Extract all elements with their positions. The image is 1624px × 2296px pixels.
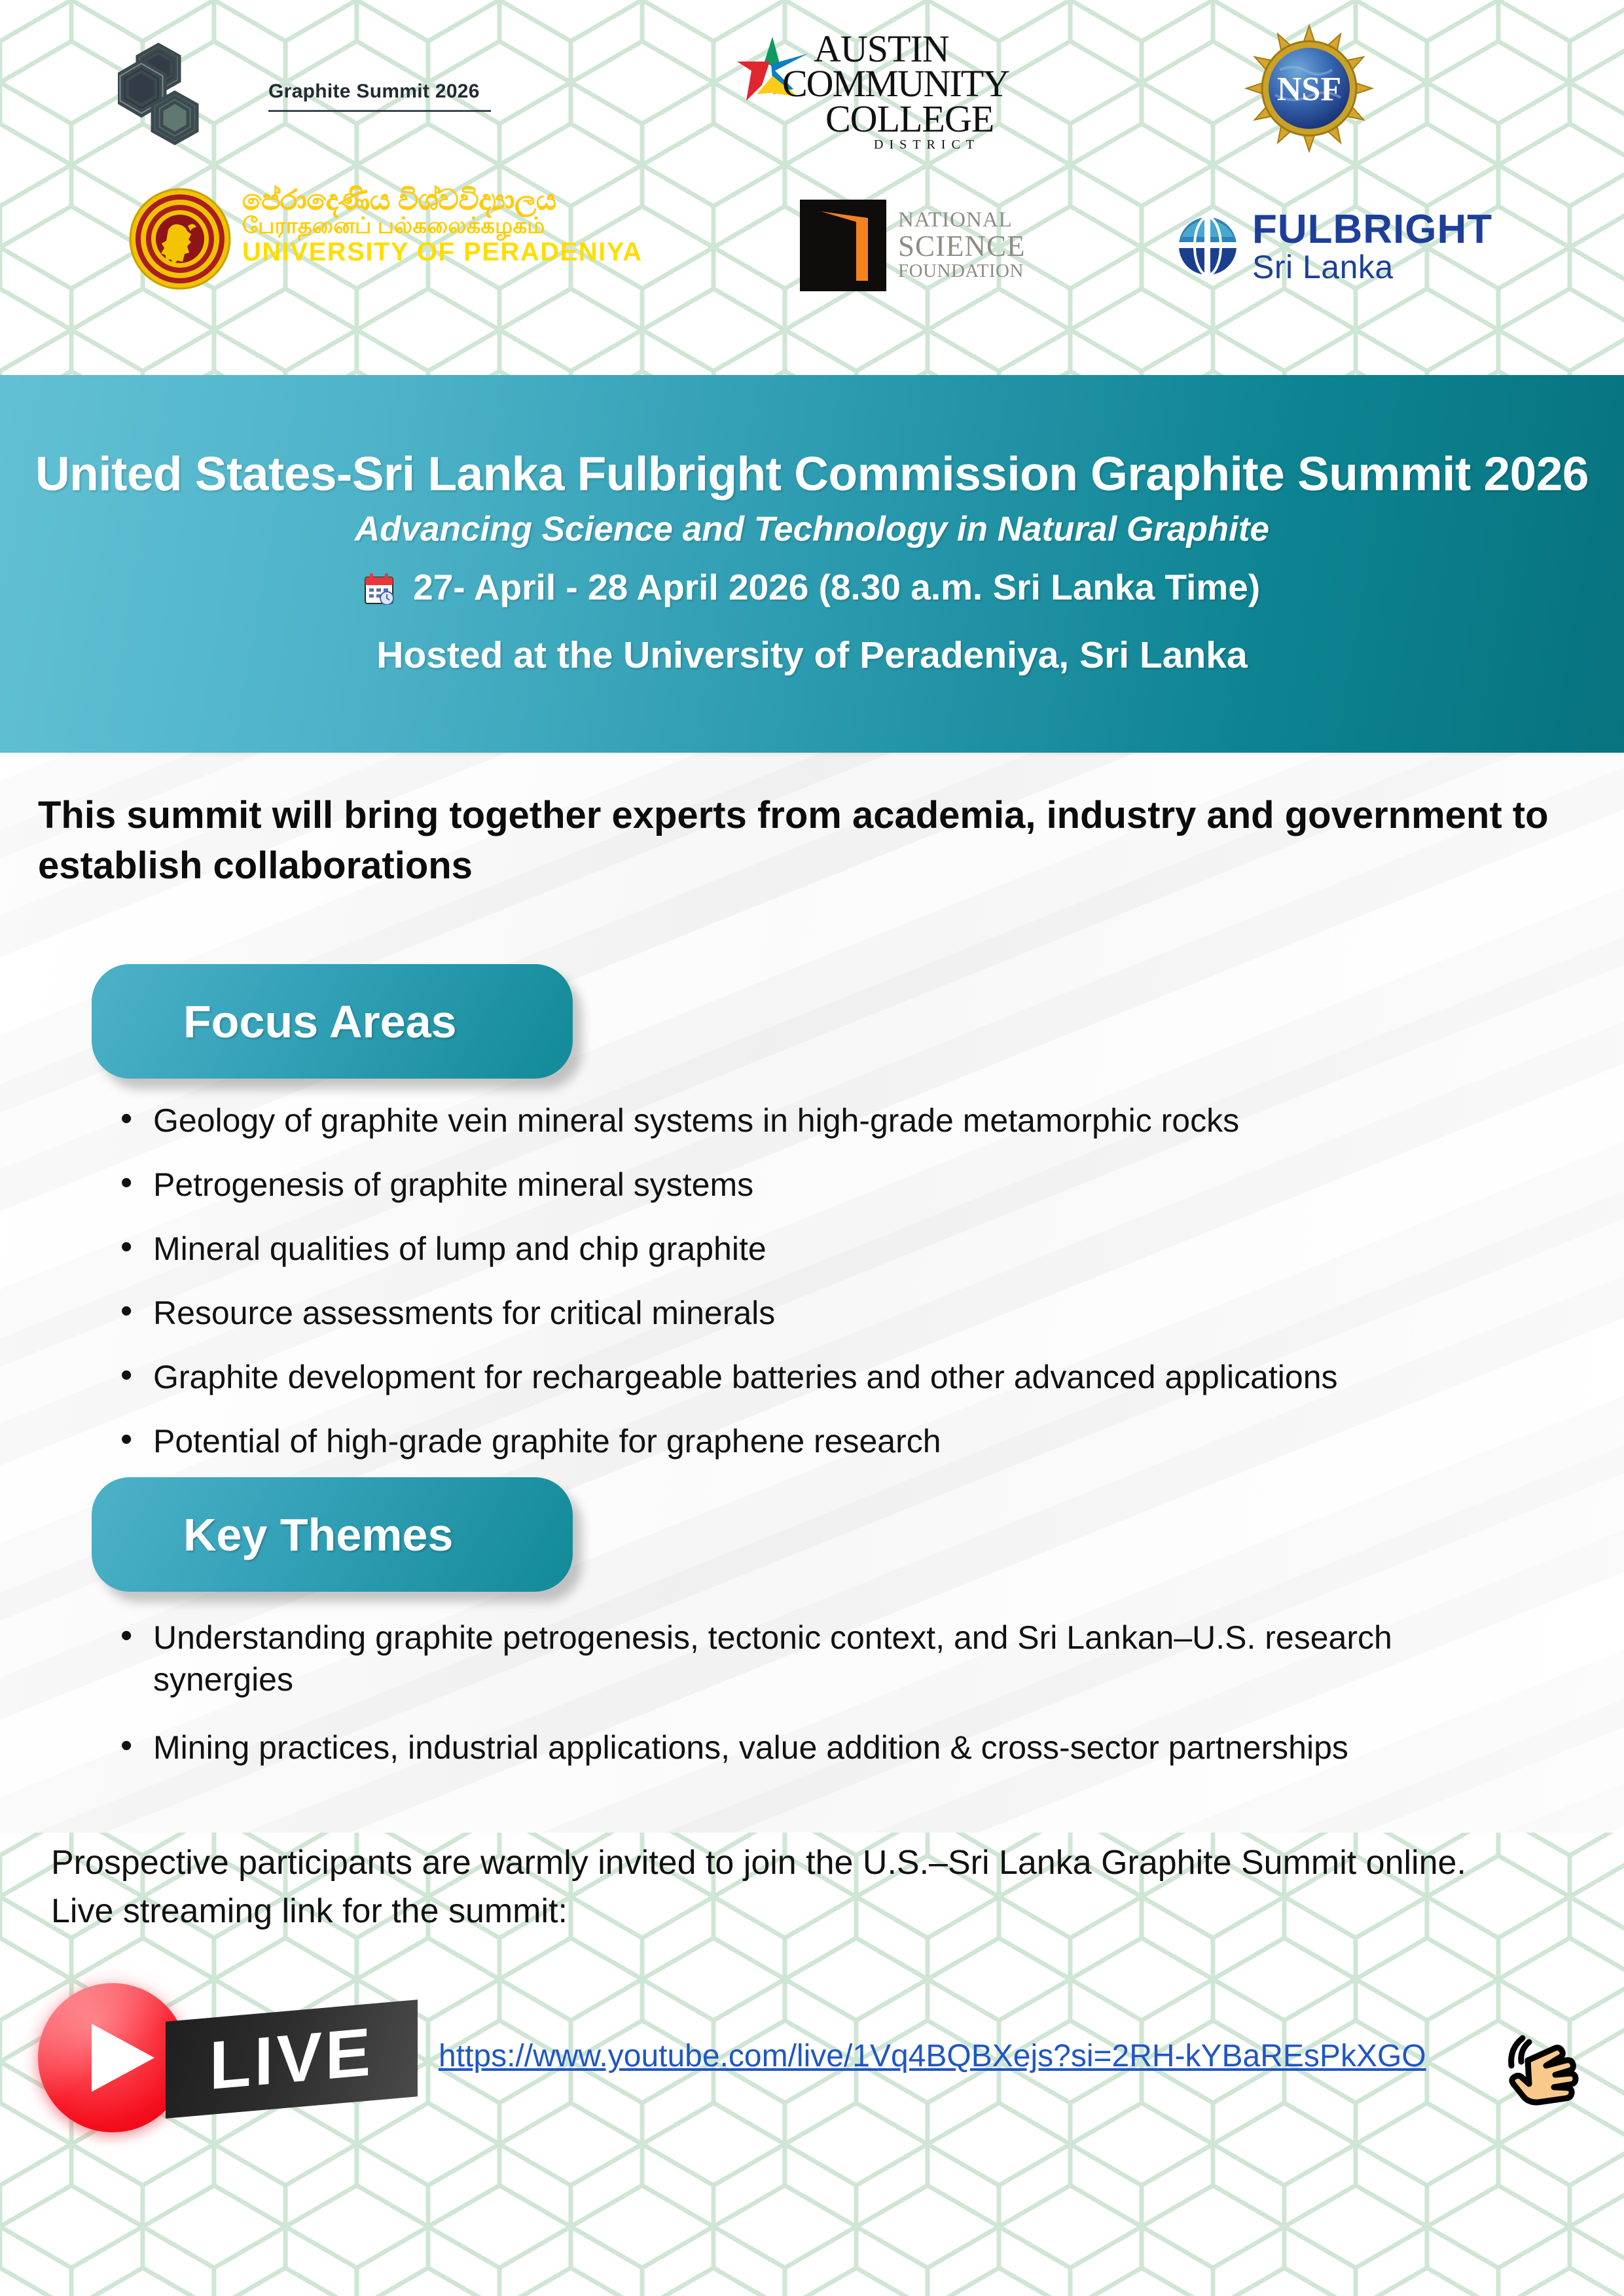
intro-paragraph: This summit will bring together experts … <box>38 790 1589 891</box>
youtube-play-icon[interactable] <box>38 1983 187 2132</box>
acc-line-community: COMMUNITY <box>782 66 1011 101</box>
list-item: Geology of graphite vein mineral systems… <box>106 1100 1592 1141</box>
focus-areas-list: Geology of graphite vein mineral systems… <box>106 1100 1592 1484</box>
nsf-seal-text: NSF <box>1277 71 1341 108</box>
nsf-word-foundation: FOUNDATION <box>898 261 1026 281</box>
invitation-text: Prospective participants are warmly invi… <box>51 1839 1589 1936</box>
event-date-row: 27- April - 28 April 2026 (8.30 a.m. Sri… <box>0 566 1624 608</box>
list-item: Mineral qualities of lump and chip graph… <box>106 1228 1592 1270</box>
key-themes-heading-pill: Key Themes <box>92 1477 573 1592</box>
invitation-line-2: Live streaming link for the summit: <box>51 1888 1589 1936</box>
key-themes-list: Understanding graphite petrogenesis, tec… <box>106 1617 1481 1795</box>
fulbright-globe-icon <box>1175 213 1240 279</box>
list-item: Resource assessments for critical minera… <box>106 1292 1592 1334</box>
nsf-globe-seal-icon: NSF <box>1244 23 1375 154</box>
acc-line-austin: AUSTIN <box>782 31 1011 66</box>
list-item: Graphite development for rechargeable ba… <box>106 1356 1592 1398</box>
event-date-text: 27- April - 28 April 2026 (8.30 a.m. Sri… <box>413 567 1260 607</box>
peradeniya-logo: පේරාදෙණිය විශ්වවිද්‍යාලය பேராதனைப் பல்கல… <box>128 187 599 298</box>
peradeniya-english: UNIVERSITY OF PERADENIYA <box>242 238 596 266</box>
austin-community-college-logo: AUSTIN COMMUNITY COLLEGE DISTRICT <box>733 26 1008 157</box>
list-item: Potential of high-grade graphite for gra… <box>106 1420 1592 1462</box>
nsf-word-national: NATIONAL <box>898 209 1026 232</box>
peradeniya-tamil: பேராதனைப் பல்கலைக்கழகம் <box>242 215 596 238</box>
live-stream-link[interactable]: https://www.youtube.com/live/1Vq4BQBXejs… <box>439 2038 1426 2074</box>
tapping-hand-icon <box>1499 2022 1591 2114</box>
list-item: Mining practices, industrial application… <box>106 1727 1481 1768</box>
peradeniya-sinhala: පේරාදෙණිය විශ්වවිද්‍යාලය <box>242 187 596 215</box>
live-stream-row: LIVE https://www.youtube.com/live/1Vq4BQ… <box>0 1977 1624 2173</box>
fulbright-sri-lanka-logo: FULBRIGHT Sri Lanka <box>1175 209 1515 295</box>
nsf-square-mark-icon <box>800 200 886 291</box>
acc-line-college: COLLEGE <box>782 101 1011 136</box>
focus-areas-heading-label: Focus Areas <box>92 996 457 1048</box>
graphite-summit-title: Graphite Summit 2026 <box>268 81 543 103</box>
fulbright-word: FULBRIGHT <box>1252 209 1492 250</box>
sponsor-logo-header: Graphite Summit 2026 AUSTIN COMMUNITY CO… <box>0 0 1624 367</box>
event-subtitle: Advancing Science and Technology in Natu… <box>0 509 1624 549</box>
national-science-foundation-wordmark: NATIONAL SCIENCE FOUNDATION <box>800 200 1075 298</box>
fulbright-srilanka-word: Sri Lanka <box>1252 250 1492 285</box>
calendar-icon <box>364 572 394 605</box>
nsf-word-science: SCIENCE <box>898 232 1026 261</box>
event-title: United States-Sri Lanka Fulbright Commis… <box>0 447 1624 501</box>
event-banner: United States-Sri Lanka Fulbright Commis… <box>0 375 1624 753</box>
acc-line-district: DISTRICT <box>782 137 1011 152</box>
graphite-summit-logo: Graphite Summit 2026 <box>118 18 399 156</box>
live-badge: LIVE <box>166 2000 418 2119</box>
key-themes-heading-label: Key Themes <box>92 1509 453 1561</box>
hexagon-cluster-icon <box>118 18 259 156</box>
graphite-summit-rule <box>268 110 491 112</box>
live-badge-label: LIVE <box>209 2013 374 2106</box>
list-item: Understanding graphite petrogenesis, tec… <box>106 1617 1481 1700</box>
list-item: Petrogenesis of graphite mineral systems <box>106 1164 1592 1206</box>
focus-areas-heading-pill: Focus Areas <box>92 964 573 1079</box>
peradeniya-lion-seal-icon <box>128 187 232 291</box>
invitation-line-1: Prospective participants are warmly invi… <box>51 1839 1589 1888</box>
event-host: Hosted at the University of Peradeniya, … <box>0 634 1624 677</box>
